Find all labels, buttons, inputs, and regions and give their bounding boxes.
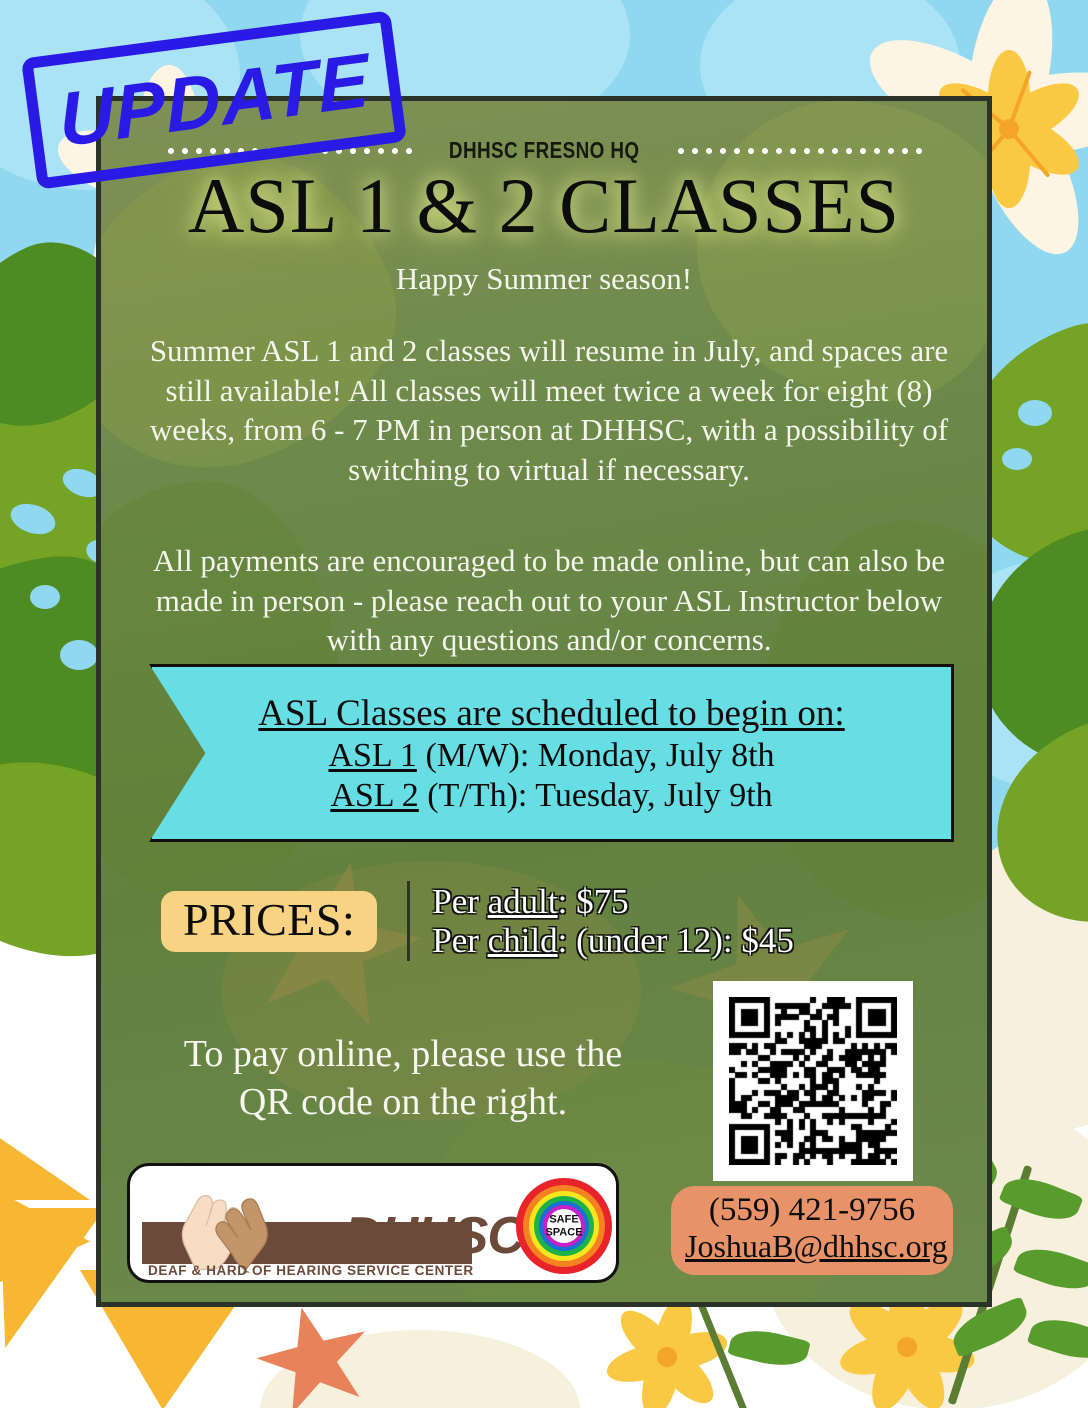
leaf-notch (1002, 448, 1032, 470)
logo-tagline: DEAF & HARD OF HEARING SERVICE CENTER (148, 1263, 474, 1278)
safe-space-label: SAFE SPACE (545, 1213, 582, 1238)
contact-badge[interactable]: (559) 421-9756 JoshuaB@dhhsc.org (671, 1186, 953, 1275)
schedule-banner: ASL Classes are scheduled to begin on: A… (149, 664, 954, 842)
payment-instruction: To pay online, please use the QR code on… (113, 1031, 693, 1126)
contact-email[interactable]: JoshuaB@dhhsc.org (685, 1229, 939, 1265)
qr-code-image (729, 997, 897, 1165)
asl1-label: ASL 1 (328, 737, 416, 774)
prices-lines: Per adult: $75 Per child: (under 12): $4… (432, 882, 794, 960)
price-adult: Per adult: $75 (432, 882, 794, 921)
page-title: ASL 1 & 2 CLASSES (101, 161, 987, 251)
dotted-rule-right (674, 147, 924, 155)
asl2-label: ASL 2 (330, 777, 418, 814)
price-adult-keyword: adult (488, 882, 558, 921)
update-stamp-label: UPDATE (56, 36, 371, 164)
signing-hands-icon (166, 1174, 296, 1274)
prices-section: PRICES: Per adult: $75 Per child: (under… (161, 877, 961, 965)
leaf-notch (30, 585, 60, 609)
asl1-detail: (M/W): Monday, July 8th (417, 737, 775, 774)
qr-code[interactable] (713, 981, 913, 1181)
price-child-value: : (under 12): $45 (558, 921, 794, 960)
poster-root: DHHSC FRESNO HQ ASL 1 & 2 CLASSES Happy … (0, 0, 1088, 1408)
payment-instruction-line1: To pay online, please use the (113, 1031, 693, 1079)
org-label: DHHSC FRESNO HQ (449, 137, 640, 164)
schedule-line-asl1: ASL 1 (M/W): Monday, July 8th (328, 737, 774, 775)
payment-instruction-line2: QR code on the right. (113, 1079, 693, 1127)
price-adult-value: : $75 (558, 882, 629, 921)
flower-gold (1008, 128, 1009, 129)
logo-wordmark: DHHSC (344, 1206, 524, 1266)
schedule-banner-inner: ASL Classes are scheduled to begin on: A… (152, 667, 951, 839)
safe-space-badge: SAFE SPACE (516, 1178, 612, 1274)
flower-gold (666, 1356, 667, 1357)
schedule-heading: ASL Classes are scheduled to begin on: (258, 692, 844, 735)
prices-divider (407, 881, 410, 961)
price-child-prefix: Per (432, 921, 487, 960)
price-child-keyword: child (488, 921, 558, 960)
body-paragraph-1: Summer ASL 1 and 2 classes will resume i… (139, 331, 959, 490)
subtitle: Happy Summer season! (101, 261, 987, 297)
asl2-detail: (T/Th): Tuesday, July 9th (419, 777, 773, 814)
leaf-notch (1018, 400, 1052, 426)
dhhsc-logo-card: DHHSC DEAF & HARD OF HEARING SERVICE CEN… (127, 1163, 619, 1283)
contact-phone[interactable]: (559) 421-9756 (685, 1192, 939, 1229)
main-content-panel: DHHSC FRESNO HQ ASL 1 & 2 CLASSES Happy … (96, 96, 992, 1307)
price-adult-prefix: Per (432, 882, 487, 921)
prices-badge: PRICES: (161, 891, 377, 952)
body-paragraph-2: All payments are encouraged to be made o… (139, 541, 959, 660)
schedule-line-asl2: ASL 2 (T/Th): Tuesday, July 9th (330, 777, 772, 815)
price-child: Per child: (under 12): $45 (432, 921, 794, 960)
leaf-notch (60, 640, 98, 670)
